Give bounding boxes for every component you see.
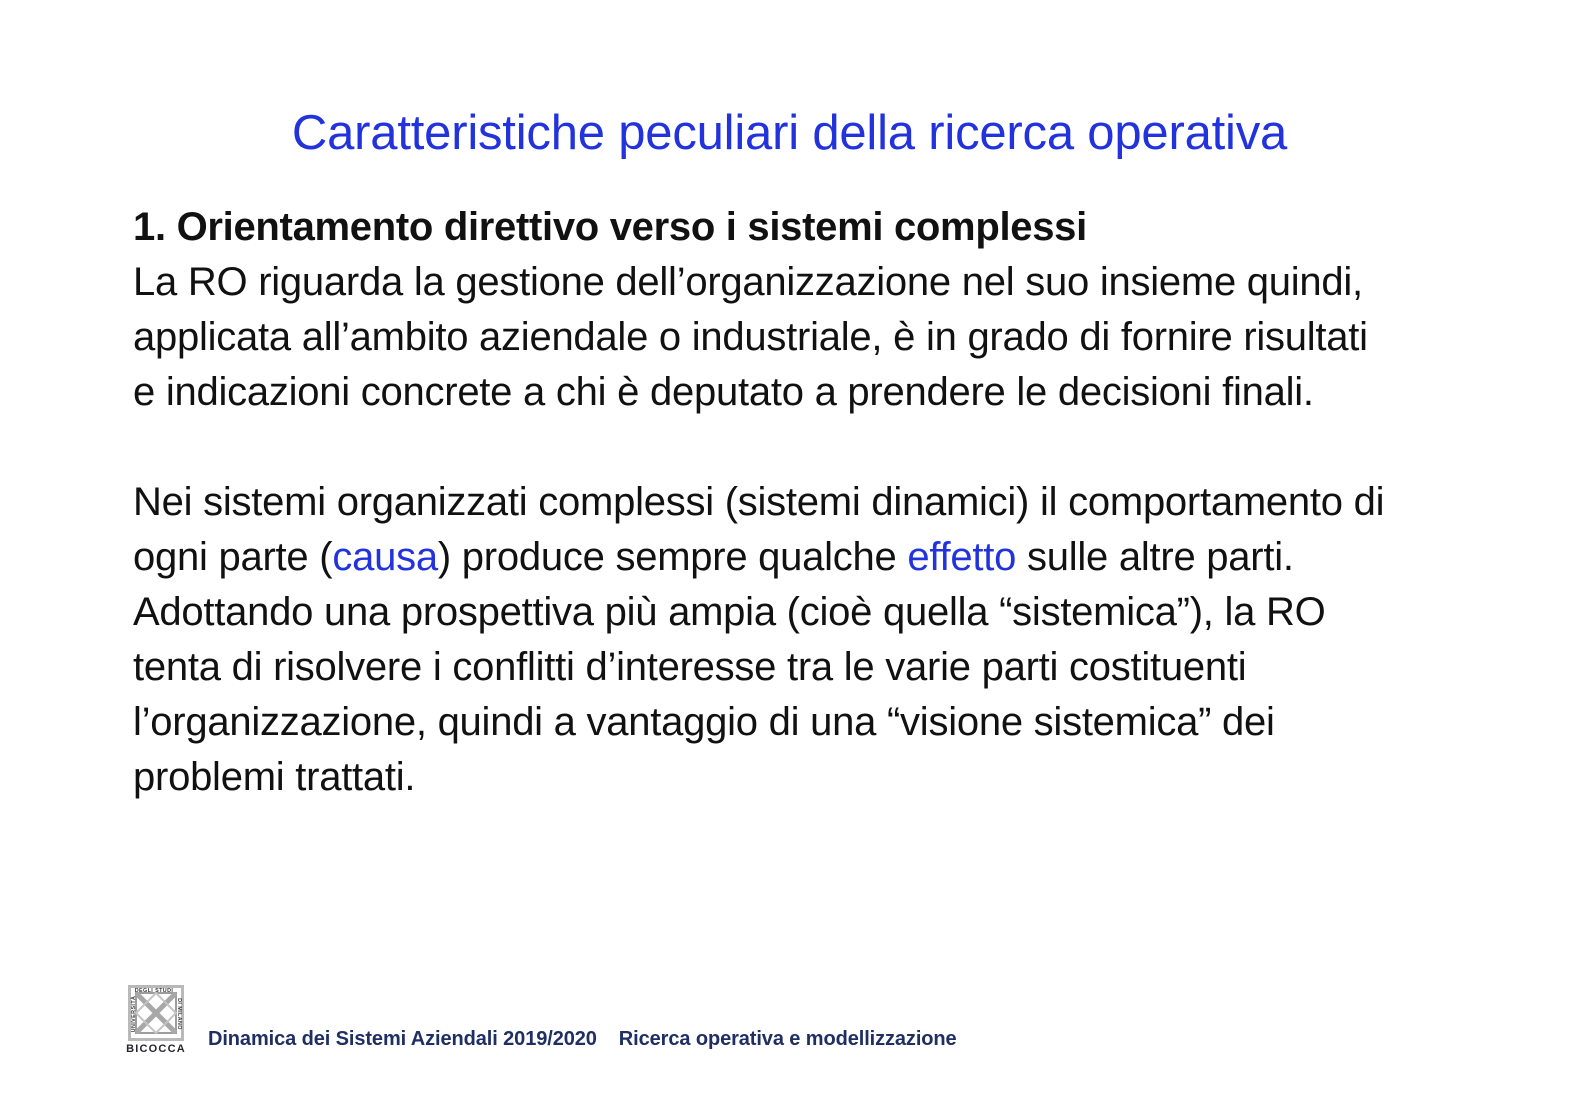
- paragraph1-line2: applicata all’ambito aziendale o industr…: [133, 310, 1473, 365]
- paragraph1-line3: e indicazioni concrete a chi è deputato …: [133, 365, 1473, 420]
- footer-caption: Dinamica dei Sistemi Aziendali 2019/2020…: [208, 1028, 957, 1057]
- paragraph2-line6: problemi trattati.: [133, 750, 1473, 805]
- page-title: Caratteristiche peculiari della ricerca …: [0, 108, 1579, 159]
- slide-body: 1. Orientamento direttivo verso i sistem…: [133, 200, 1473, 805]
- logo-cross-emblem-icon: [135, 992, 177, 1034]
- footer-topic-label: Ricerca operativa e modellizzazione: [619, 1028, 957, 1050]
- paragraph2-line4: tenta di risolvere i conflitti d’interes…: [133, 640, 1473, 695]
- bicocca-university-logo-icon: DEGLI STUDI UNIVERSITÀ DI MILANO BICOCCA: [123, 985, 189, 1057]
- paragraph1-line1: La RO riguarda la gestione dell’organizz…: [133, 255, 1473, 310]
- keyword-effetto: effetto: [907, 535, 1016, 579]
- paragraph2-line5: l’organizzazione, quindi a vantaggio di …: [133, 695, 1473, 750]
- paragraph2-line2: ogni parte (causa) produce sempre qualch…: [133, 530, 1473, 585]
- paragraph2-line1: Nei sistemi organizzati complessi (siste…: [133, 475, 1473, 530]
- keyword-causa: causa: [332, 535, 438, 579]
- paragraph-spacer: [133, 420, 1473, 475]
- paragraph2-line2-segment-a: ogni parte (: [133, 535, 332, 579]
- body-heading: 1. Orientamento direttivo verso i sistem…: [133, 200, 1473, 255]
- slide-canvas: Caratteristiche peculiari della ricerca …: [0, 0, 1579, 1116]
- footer-course-label: Dinamica dei Sistemi Aziendali 2019/2020: [208, 1028, 597, 1050]
- paragraph2-line3: Adottando una prospettiva più ampia (cio…: [133, 585, 1473, 640]
- slide-footer: DEGLI STUDI UNIVERSITÀ DI MILANO BICOCCA…: [123, 985, 957, 1057]
- logo-wordmark: BICOCCA: [125, 1043, 187, 1055]
- paragraph2-line2-segment-b: ) produce sempre qualche: [438, 535, 908, 579]
- paragraph2-line2-segment-c: sulle altre parti.: [1016, 535, 1294, 579]
